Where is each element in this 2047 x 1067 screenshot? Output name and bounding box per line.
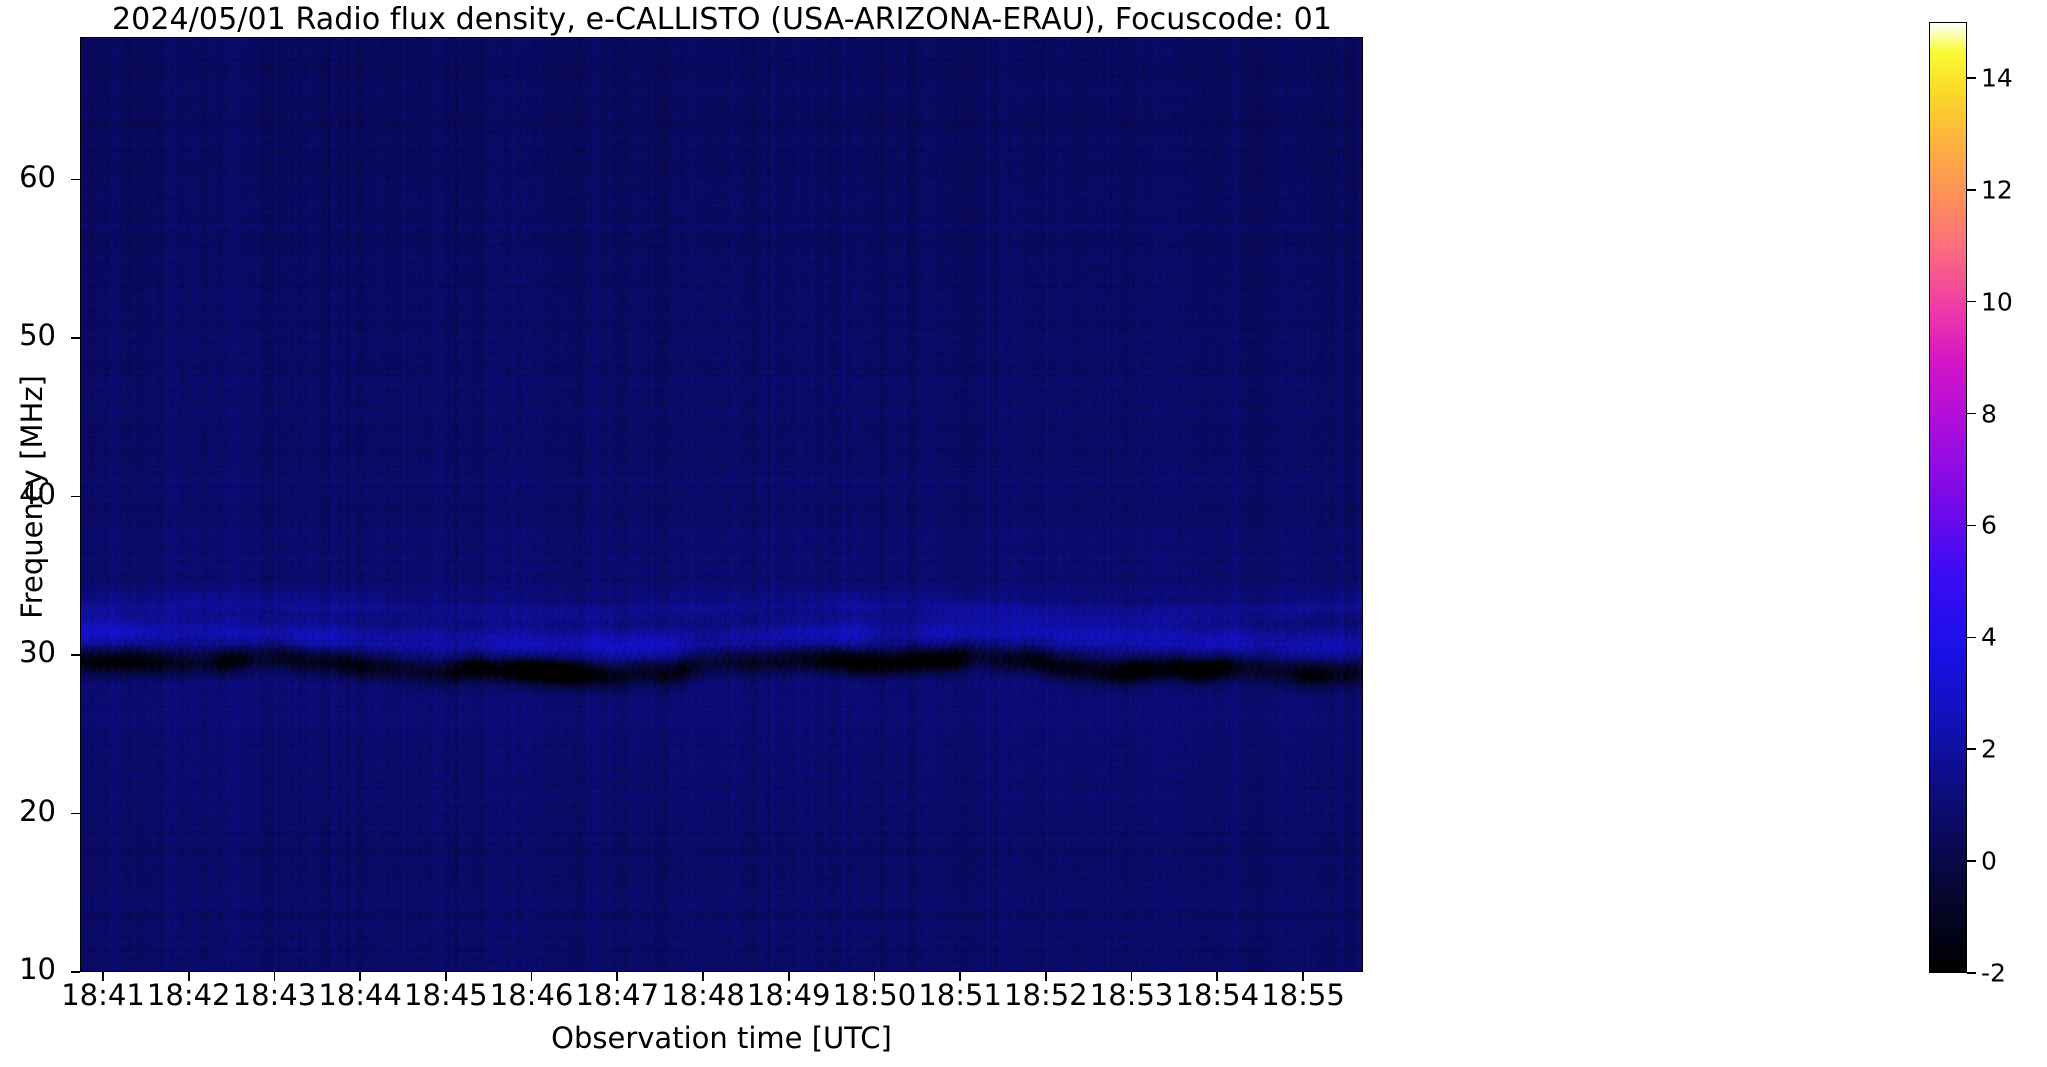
colorbar-tick-mark [1967,77,1976,79]
y-tick-mark [71,179,80,181]
colorbar-tick-label: 0 [1981,847,1997,876]
x-tick-label: 18:55 [1261,978,1345,1012]
colorbar-tick-mark [1967,413,1976,415]
colorbar-tick-label: 4 [1981,623,1997,652]
colorbar-tick-label: 12 [1981,175,2013,204]
x-tick-label: 18:47 [575,978,659,1012]
x-tick-label: 18:52 [1004,978,1088,1012]
y-tick-label: 50 [0,318,56,352]
x-tick-label: 18:54 [1175,978,1259,1012]
y-tick-label: 20 [0,794,56,828]
colorbar-tick-label: 8 [1981,399,1997,428]
x-tick-label: 18:45 [404,978,488,1012]
x-tick-label: 18:41 [61,978,145,1012]
x-axis-label: Observation time [UTC] [80,1021,1363,1055]
colorbar-tick-mark [1967,748,1976,750]
colorbar-tick-mark [1967,972,1976,974]
x-tick-label: 18:53 [1090,978,1174,1012]
colorbar-tick-mark [1967,301,1976,303]
x-tick-label: 18:43 [233,978,317,1012]
x-tick-label: 18:49 [747,978,831,1012]
spectrogram-image [81,38,1362,971]
y-axis-label: Frequency [MHz] [15,367,49,627]
x-tick-label: 18:48 [661,978,745,1012]
colorbar [1929,22,1967,973]
x-tick-label: 18:50 [833,978,917,1012]
y-tick-label: 30 [0,635,56,669]
colorbar-tick-mark [1967,525,1976,527]
colorbar-tick-label: 10 [1981,287,2013,316]
y-tick-mark [71,971,80,973]
colorbar-tick-mark [1967,637,1976,639]
x-tick-label: 18:44 [318,978,402,1012]
colorbar-tick-label: 14 [1981,63,2013,92]
y-tick-mark [71,813,80,815]
x-tick-label: 18:42 [147,978,231,1012]
x-tick-label: 18:51 [918,978,1002,1012]
colorbar-tick-mark [1967,860,1976,862]
colorbar-tick-label: 6 [1981,511,1997,540]
x-tick-label: 18:46 [490,978,574,1012]
y-tick-mark [71,654,80,656]
y-tick-mark [71,337,80,339]
colorbar-tick-label: 2 [1981,735,1997,764]
spectrogram-plot-area [80,37,1363,972]
y-tick-label: 60 [0,160,56,194]
chart-title: 2024/05/01 Radio flux density, e-CALLIST… [80,2,1364,37]
colorbar-tick-mark [1967,189,1976,191]
y-tick-label: 10 [0,952,56,986]
y-tick-mark [71,496,80,498]
colorbar-gradient [1930,23,1966,972]
colorbar-tick-label: -2 [1981,959,2006,988]
